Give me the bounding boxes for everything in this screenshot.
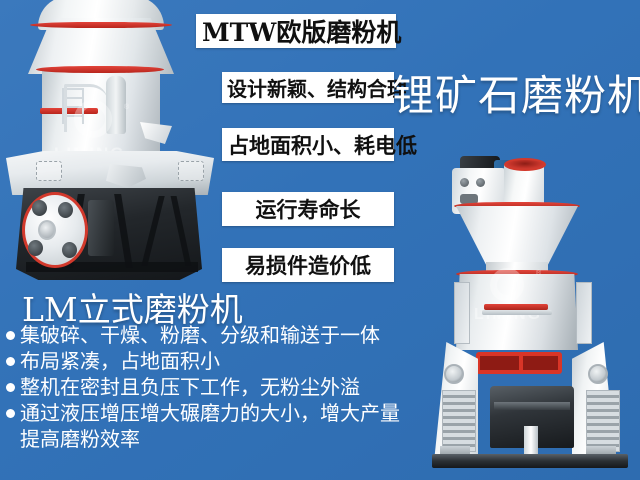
vmill-rail (482, 310, 552, 315)
vmill-side-panel-right (576, 282, 592, 344)
watermark-ring (490, 268, 524, 302)
bullet-dot-icon (6, 331, 15, 340)
vmill-base-plinth (432, 454, 628, 468)
flywheel-hole (32, 200, 47, 216)
mtw-mill-illustration: ® LIMING (2, 0, 218, 288)
vmill-classifier-cone (456, 206, 578, 268)
label-feature-2: 占地面积小、耗电低 (222, 128, 394, 161)
mill-access-hatch-left (36, 161, 62, 181)
list-item-label: 布局紧凑，占地面积小 (20, 348, 220, 374)
gearbox-port (460, 178, 469, 187)
list-item-label: 集破碎、干燥、粉磨、分级和输送于一体 (20, 322, 380, 348)
list-item: 布局紧凑，占地面积小 (6, 348, 476, 374)
label-feature-1: 设计新颖、结构合理 (222, 72, 394, 103)
list-item: 集破碎、干燥、粉磨、分级和输送于一体 (6, 322, 476, 348)
vmill-reducer-band (494, 402, 570, 410)
flywheel-hole (58, 202, 73, 218)
mill-red-band-top (30, 22, 172, 28)
mill-drive-motor (88, 200, 114, 256)
watermark-registered-mark: ® (536, 270, 541, 277)
watermark-registered-mark: ® (124, 104, 129, 111)
mill-access-hatch-right (178, 161, 204, 181)
outlet-divider (519, 356, 523, 370)
label-feature-3: 运行寿命长 (222, 192, 394, 226)
bullet-dot-icon (6, 409, 15, 418)
list-item-label: 通过液压增压增大碾磨力的大小，增大产量 (20, 400, 400, 426)
bullet-dot-icon (6, 357, 15, 366)
flywheel-hub (38, 220, 56, 240)
vmill-leg-port-right (588, 364, 608, 384)
list-item: 整机在密封且负压下工作，无粉尘外溢 (6, 374, 476, 400)
gearbox-port (476, 178, 485, 187)
vmill-grill-right (586, 390, 620, 452)
page-title: 锂矿石磨粉机 (392, 62, 640, 123)
vmill-inlet-red-rim (504, 158, 546, 171)
watermark-ring (74, 100, 112, 138)
lm-feature-list: 集破碎、干燥、粉磨、分级和输送于一体 布局紧凑，占地面积小 整机在密封且负压下工… (6, 322, 476, 452)
flywheel-hole (62, 242, 77, 258)
label-feature-4: 易损件造价低 (222, 248, 394, 282)
list-item-continuation: 提高磨粉效率 (6, 426, 476, 452)
flywheel-hole (28, 240, 43, 256)
mill-red-band-middle (36, 66, 164, 73)
label-mtw-title: MTW欧版磨粉机 (196, 14, 396, 48)
poster-canvas: ® LIMING ® (0, 0, 640, 480)
bullet-dot-icon (6, 383, 15, 392)
list-item-label: 整机在密封且负压下工作，无粉尘外溢 (20, 374, 360, 400)
list-item: 通过液压增压增大碾磨力的大小，增大产量 (6, 400, 476, 426)
vmill-red-outlet-housing (476, 352, 562, 374)
